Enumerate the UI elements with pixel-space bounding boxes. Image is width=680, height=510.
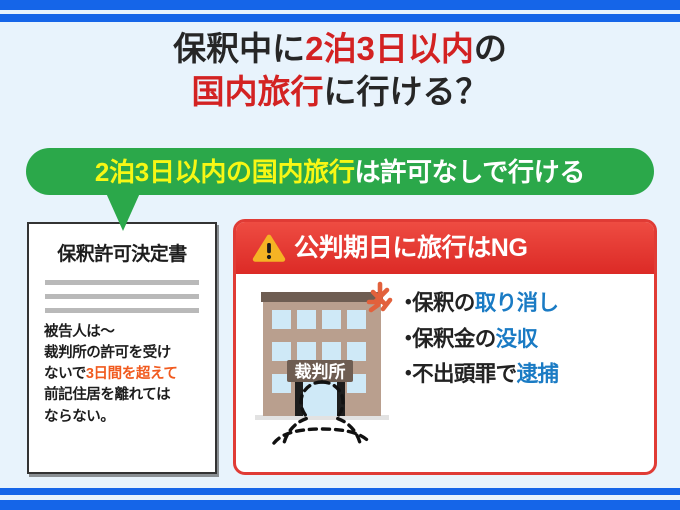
top-blue-rule-2 xyxy=(0,14,680,22)
consequence-list: •保釈の取り消し •保釈金の没収 •不出頭罪で逮捕 xyxy=(405,286,558,393)
title-line-2: 国内旅行に行ける？ xyxy=(0,71,680,114)
list-item-text: 不出頭罪で xyxy=(412,362,517,386)
answer-banner-highlight: 2泊3日以内の国内旅行 xyxy=(95,157,355,187)
title-line-1: 保釈中に2泊3日以内の xyxy=(0,28,680,71)
list-item: •不出頭罪で逮捕 xyxy=(405,357,558,393)
bottom-blue-rule-1 xyxy=(0,488,680,495)
document-body-line-5: ならない。 xyxy=(44,407,201,428)
answer-banner: 2泊3日以内の国内旅行は許可なしで行ける xyxy=(26,148,654,195)
document-body-line-1: 被告人は〜 xyxy=(44,322,201,343)
document-body-line-3-text: ないで xyxy=(44,366,86,382)
title-text-1: 保釈中に xyxy=(173,30,305,67)
answer-banner-text: 2泊3日以内の国内旅行は許可なしで行ける xyxy=(95,159,585,185)
document-title: 保釈許可決定書 xyxy=(29,239,215,266)
document-body-line-2: 裁判所の許可を受け xyxy=(44,343,201,364)
list-item: •保釈金の没収 xyxy=(405,322,558,358)
answer-banner-rest: は許可なしで行ける xyxy=(355,157,586,187)
warning-triangle-icon xyxy=(252,233,286,263)
bail-permit-document-card: 保釈許可決定書 被告人は〜 裁判所の許可を受け ないで3日間を超えて 前記住居を… xyxy=(27,222,217,474)
answer-banner-pointer xyxy=(106,193,140,231)
redacted-line xyxy=(45,294,199,299)
warning-card-body: 裁判所 xyxy=(236,274,654,472)
courthouse-illustration: 裁判所 xyxy=(247,278,397,468)
list-item-text: 保釈の xyxy=(412,291,475,315)
document-body-line-3: ないで3日間を超えて xyxy=(44,364,201,385)
document-body-highlight: 3日間を超えて xyxy=(86,366,178,382)
redacted-lines xyxy=(45,280,199,313)
title-highlight-2: 国内旅行 xyxy=(192,73,324,110)
list-item-highlight: 没収 xyxy=(496,327,538,351)
title-highlight-1: 2泊3日以内 xyxy=(305,30,474,67)
title-text-3: に行ける？ xyxy=(324,73,489,110)
title-text-2: の xyxy=(474,30,507,67)
warning-card-header-text: 公判期日に旅行はNG xyxy=(294,236,528,261)
bullet-dot-icon: • xyxy=(405,292,411,313)
bottom-blue-rule-2 xyxy=(0,500,680,510)
redacted-line xyxy=(45,308,199,313)
bullet-dot-icon: • xyxy=(405,363,411,384)
redacted-line xyxy=(45,280,199,285)
trial-date-warning-card: 公判期日に旅行はNG xyxy=(233,219,657,475)
infographic-canvas: 保釈中に2泊3日以内の 国内旅行に行ける？ 2泊3日以内の国内旅行は許可なしで行… xyxy=(0,0,680,510)
list-item-highlight: 逮捕 xyxy=(517,362,559,386)
page-title: 保釈中に2泊3日以内の 国内旅行に行ける？ xyxy=(0,28,680,114)
list-item: •保釈の取り消し xyxy=(405,286,558,322)
bullet-dot-icon: • xyxy=(405,328,411,349)
courthouse-svg: 裁判所 xyxy=(247,278,397,468)
list-item-text: 保釈金の xyxy=(412,327,496,351)
warning-card-header: 公判期日に旅行はNG xyxy=(236,222,654,274)
document-body: 被告人は〜 裁判所の許可を受け ないで3日間を超えて 前記住居を離れては ならな… xyxy=(44,322,201,428)
document-body-line-4: 前記住居を離れては xyxy=(44,385,201,406)
top-blue-rule-1 xyxy=(0,0,680,10)
list-item-highlight: 取り消し xyxy=(475,291,559,315)
courthouse-sign-label: 裁判所 xyxy=(295,362,346,382)
